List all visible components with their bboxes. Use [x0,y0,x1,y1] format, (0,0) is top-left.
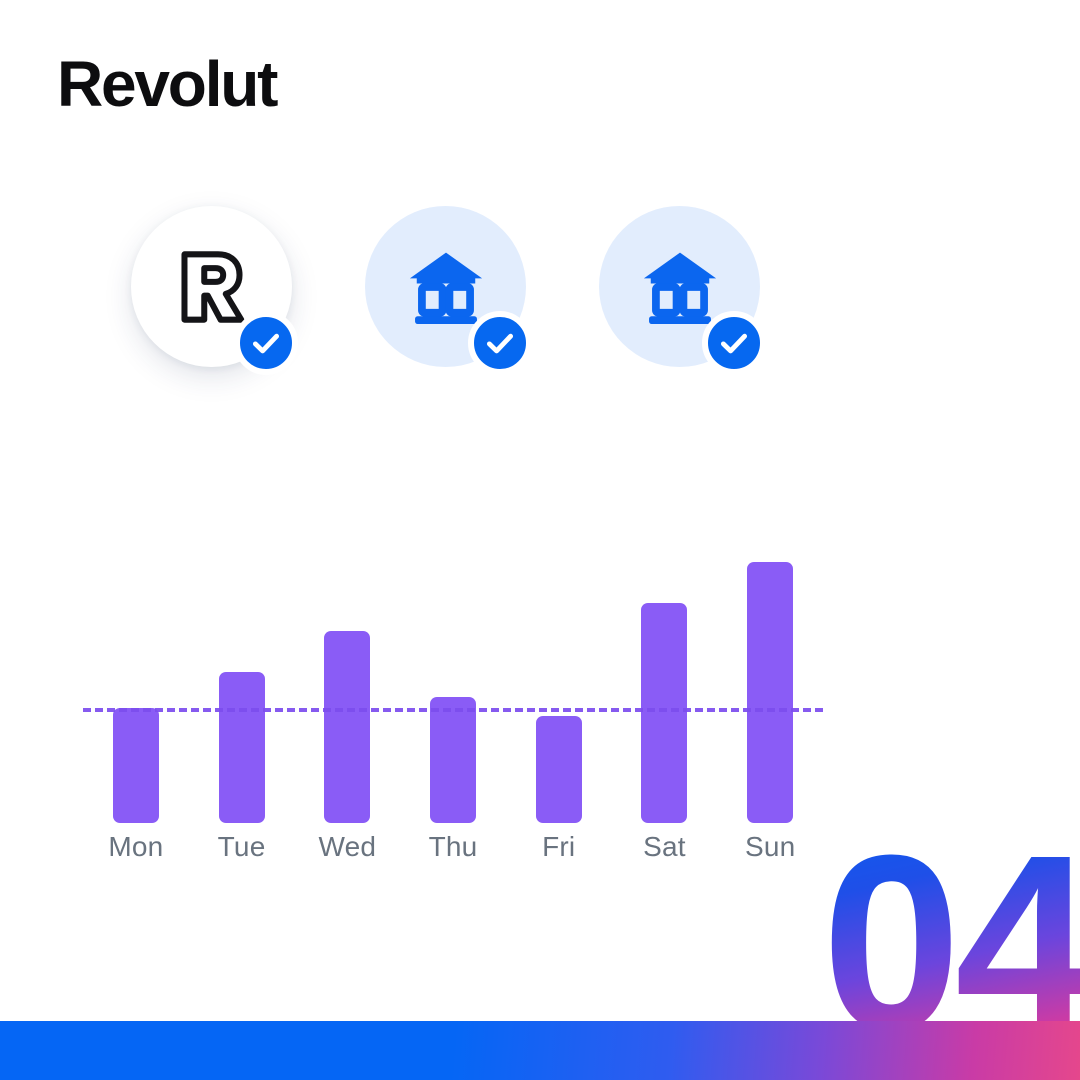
chart-bar[interactable] [747,562,793,823]
chart-bar[interactable] [641,603,687,823]
chart-bar-slot [189,548,295,823]
chart-reference-line [83,708,823,712]
bank-icon [637,244,723,330]
brand-wordmark: Revolut [57,52,276,116]
chart-bar[interactable] [219,672,265,823]
chart-x-axis: MonTueWedThuFriSatSun [83,831,823,863]
account-badge-revolut[interactable] [131,206,292,367]
check-icon [717,326,751,360]
chart-axis-label: Sun [717,831,823,863]
account-badge-bank-2[interactable] [599,206,760,367]
chart-bars [83,548,823,823]
check-icon [483,326,517,360]
weekly-bar-chart: MonTueWedThuFriSatSun [83,548,823,888]
chart-bar-slot [83,548,189,823]
check-icon [249,326,283,360]
chart-bar[interactable] [536,716,582,823]
verified-check-badge [234,311,298,375]
chart-axis-label: Thu [400,831,506,863]
chart-axis-label: Mon [83,831,189,863]
revolut-r-icon [169,244,255,330]
bottom-accent-bar [0,1021,1080,1080]
chart-axis-label: Sat [612,831,718,863]
chart-bar-slot [294,548,400,823]
bank-icon [403,244,489,330]
chart-axis-label: Tue [189,831,295,863]
chart-bar-slot [400,548,506,823]
chart-bar[interactable] [113,708,159,824]
slide-canvas: Revolut [0,0,1080,1080]
chart-bar-slot [612,548,718,823]
chart-plot-area [83,548,823,823]
verified-check-badge [702,311,766,375]
chart-bar[interactable] [430,697,476,824]
verified-check-badge [468,311,532,375]
chart-bar-slot [506,548,612,823]
account-badge-bank-1[interactable] [365,206,526,367]
account-badge-row [131,206,760,367]
chart-axis-label: Wed [294,831,400,863]
chart-bar-slot [717,548,823,823]
chart-axis-label: Fri [506,831,612,863]
chart-bar[interactable] [324,631,370,824]
